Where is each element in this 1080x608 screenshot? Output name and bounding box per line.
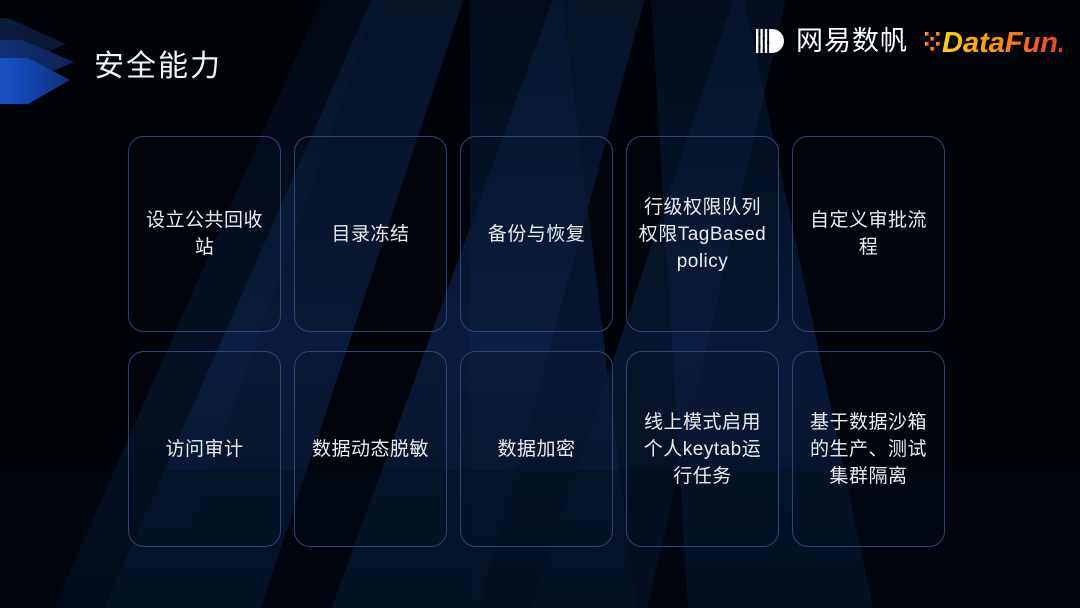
card-label: 线上模式启用个人keytab运行任务 bbox=[637, 409, 768, 490]
netease-logo-text: 网易数帆 bbox=[796, 28, 908, 55]
card-online-keytab[interactable]: 线上模式启用个人keytab运行任务 bbox=[626, 351, 779, 547]
netease-mark-icon bbox=[754, 24, 788, 58]
datafun-logo-text: DataFun. bbox=[942, 27, 1062, 59]
card-backup-restore[interactable]: 备份与恢复 bbox=[460, 136, 613, 332]
card-public-recycle-bin[interactable]: 设立公共回收站 bbox=[128, 136, 281, 332]
card-label: 访问审计 bbox=[165, 436, 243, 463]
card-label: 自定义审批流程 bbox=[803, 207, 934, 261]
card-label: 数据加密 bbox=[497, 436, 575, 463]
datafun-logo: DataFun. bbox=[924, 23, 1062, 59]
card-data-encryption[interactable]: 数据加密 bbox=[460, 351, 613, 547]
logo-group: 网易数帆 bbox=[754, 20, 1062, 62]
card-label: 数据动态脱敏 bbox=[312, 436, 429, 463]
card-sandbox-cluster-isolation[interactable]: 基于数据沙箱的生产、测试集群隔离 bbox=[792, 351, 945, 547]
card-dynamic-data-masking[interactable]: 数据动态脱敏 bbox=[294, 351, 447, 547]
slide-root: 安全能力 网易数帆 bbox=[0, 0, 1080, 608]
card-label: 基于数据沙箱的生产、测试集群隔离 bbox=[803, 409, 934, 490]
datafun-logo-icon: DataFun. bbox=[924, 23, 1062, 59]
card-label: 行级权限队列权限TagBased policy bbox=[637, 194, 768, 275]
card-label: 目录冻结 bbox=[331, 221, 409, 248]
card-label: 备份与恢复 bbox=[488, 221, 586, 248]
card-custom-approval-flow[interactable]: 自定义审批流程 bbox=[792, 136, 945, 332]
card-row-queue-tag-policy[interactable]: 行级权限队列权限TagBased policy bbox=[626, 136, 779, 332]
card-access-audit[interactable]: 访问审计 bbox=[128, 351, 281, 547]
page-title: 安全能力 bbox=[94, 47, 222, 87]
card-directory-freeze[interactable]: 目录冻结 bbox=[294, 136, 447, 332]
capability-card-grid: 设立公共回收站 目录冻结 备份与恢复 行级权限队列权限TagBased poli… bbox=[128, 136, 944, 547]
card-label: 设立公共回收站 bbox=[139, 207, 270, 261]
netease-logo: 网易数帆 bbox=[754, 24, 908, 58]
